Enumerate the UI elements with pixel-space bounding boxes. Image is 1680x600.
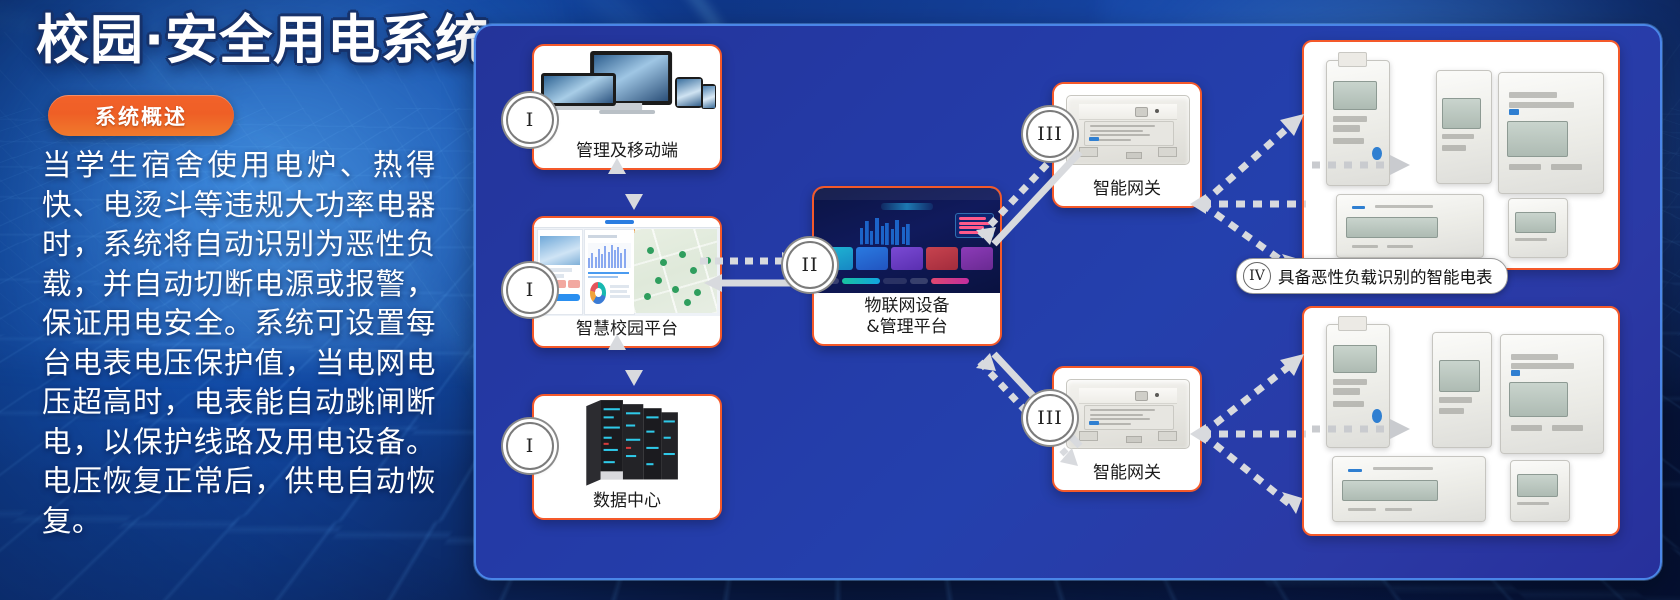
diagram-panel: 管理及移动端 I [474,24,1662,580]
smart-campus-thumbnail [534,218,720,316]
smart-meter-din-rail [1336,194,1484,258]
connector-gateway-top-to-meters [1188,86,1318,286]
device-mockup-icon [534,46,720,138]
data-center-thumbnail [534,396,720,488]
node-iot-platform-label: 物联网设备 &管理平台 [814,293,1000,344]
intro-column: 校园·安全用电系统 系统概述 当学生宿舍使用电炉、热得快、电烫斗等违规大功率电器… [0,0,470,600]
smart-meter-three-phase [1500,334,1604,454]
connector-gateway-bottom-to-meters [1188,348,1318,548]
node-management-mobile-badge: I [506,96,554,144]
meter-group-label-text: 具备恶性负载识别的智能电表 [1278,264,1493,288]
node-smart-campus-badge: I [506,266,554,314]
node-data-center-badge: I [506,422,554,470]
connector-campus-to-datacenter [604,334,644,386]
smart-meter-din-rail [1332,456,1486,522]
node-smart-campus-platform[interactable]: 智慧校园平台 [532,216,722,348]
meter-group-badge: IV [1243,262,1271,290]
smart-meter-slim [1432,332,1492,448]
connector-meter-bottom-inner [1312,418,1418,440]
smart-meter-three-phase [1498,72,1604,194]
connector-meter-top-inner [1312,154,1418,176]
section-badge: 系统概述 [48,95,234,136]
campus-dashboard-icon [534,218,720,316]
smart-meter-compact [1508,198,1568,258]
node-iot-platform-badge: II [786,241,834,289]
section-badge-label: 系统概述 [95,101,187,131]
node-smart-gateway-top-badge: III [1026,110,1074,158]
connector-management-to-campus [604,158,644,210]
node-data-center-label: 数据中心 [534,488,720,518]
smart-meter-compact [1510,460,1570,522]
page-title: 校园·安全用电系统 [36,12,489,69]
server-rack-icon [534,396,720,488]
overview-text: 当学生宿舍使用电炉、热得快、电烫斗等违规大功率电器时，系统将自动识别为恶性负载，… [42,146,436,541]
smart-meter-slim [1436,70,1492,184]
node-smart-gateway-bottom-badge: III [1026,394,1074,442]
management-mobile-thumbnail [534,46,720,138]
node-data-center[interactable]: 数据中心 [532,394,722,520]
meter-group-label[interactable]: IV 具备恶性负载识别的智能电表 [1236,258,1508,294]
node-management-mobile[interactable]: 管理及移动端 [532,44,722,170]
